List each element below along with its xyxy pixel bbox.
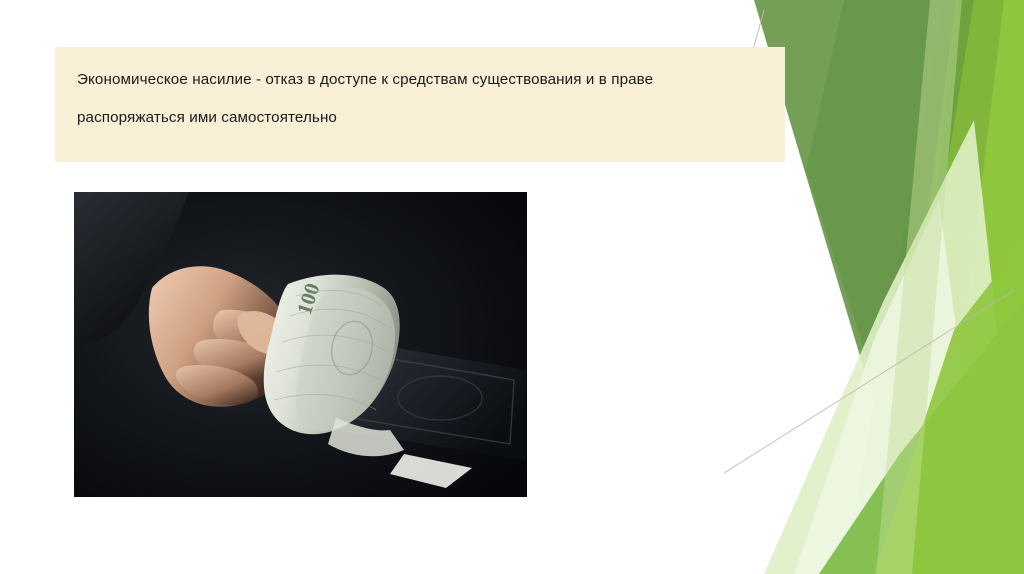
caption-text: Экономическое насилие - отказ в доступе … bbox=[77, 61, 763, 138]
decor-shape-pale-sweep bbox=[764, 120, 1024, 574]
decor-shape-dark-v bbox=[806, 0, 974, 460]
decor-shape-bright-right bbox=[900, 0, 1024, 574]
decor-hairline-2 bbox=[724, 290, 1014, 574]
caption-banner: Экономическое насилие - отказ в доступе … bbox=[55, 47, 785, 162]
decor-shape-lower-bright bbox=[874, 240, 1024, 574]
decor-shape-lower-right-green bbox=[819, 300, 1024, 574]
decor-shape-very-pale bbox=[794, 200, 989, 574]
decor-shape-light-sliver bbox=[876, 0, 962, 574]
presentation-slide: Экономическое насилие - отказ в доступе … bbox=[0, 0, 1024, 574]
hand-holding-money-photo: 100 bbox=[74, 192, 527, 497]
decor-shape-mid-green-band bbox=[844, 0, 1004, 574]
